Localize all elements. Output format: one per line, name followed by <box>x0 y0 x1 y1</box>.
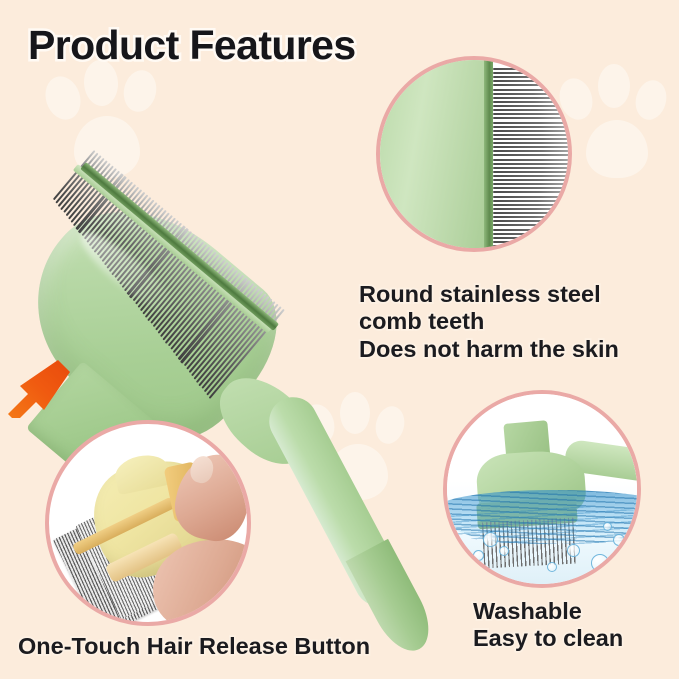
bubble <box>547 562 557 572</box>
caption-comb-teeth: Round stainless steel comb teeth Does no… <box>359 281 619 363</box>
caption-hair-release: One-Touch Hair Release Button <box>18 633 370 660</box>
bubble <box>567 544 580 557</box>
callout-wash-scene <box>447 394 637 584</box>
bubble <box>483 532 498 547</box>
bubble <box>591 554 609 572</box>
callout-comb-green-base <box>376 56 486 252</box>
callout-hair-release <box>45 420 251 626</box>
caption-washable: Washable Easy to clean <box>473 598 623 653</box>
callout-release-scene <box>49 424 247 622</box>
paw-print-decor-top-right <box>556 64 679 190</box>
callout-comb-edge <box>484 56 493 252</box>
callout-washable <box>443 390 641 588</box>
bubble <box>473 550 484 561</box>
infographic-canvas: Product Features Round stainless steel c… <box>0 0 679 679</box>
callout-comb-teeth <box>376 56 572 252</box>
callout-comb-pins <box>493 68 572 248</box>
bubble <box>613 534 625 546</box>
bubble <box>603 522 612 531</box>
page-title: Product Features <box>28 22 356 69</box>
bubble <box>499 546 509 556</box>
button-pointer-arrow <box>6 352 78 418</box>
